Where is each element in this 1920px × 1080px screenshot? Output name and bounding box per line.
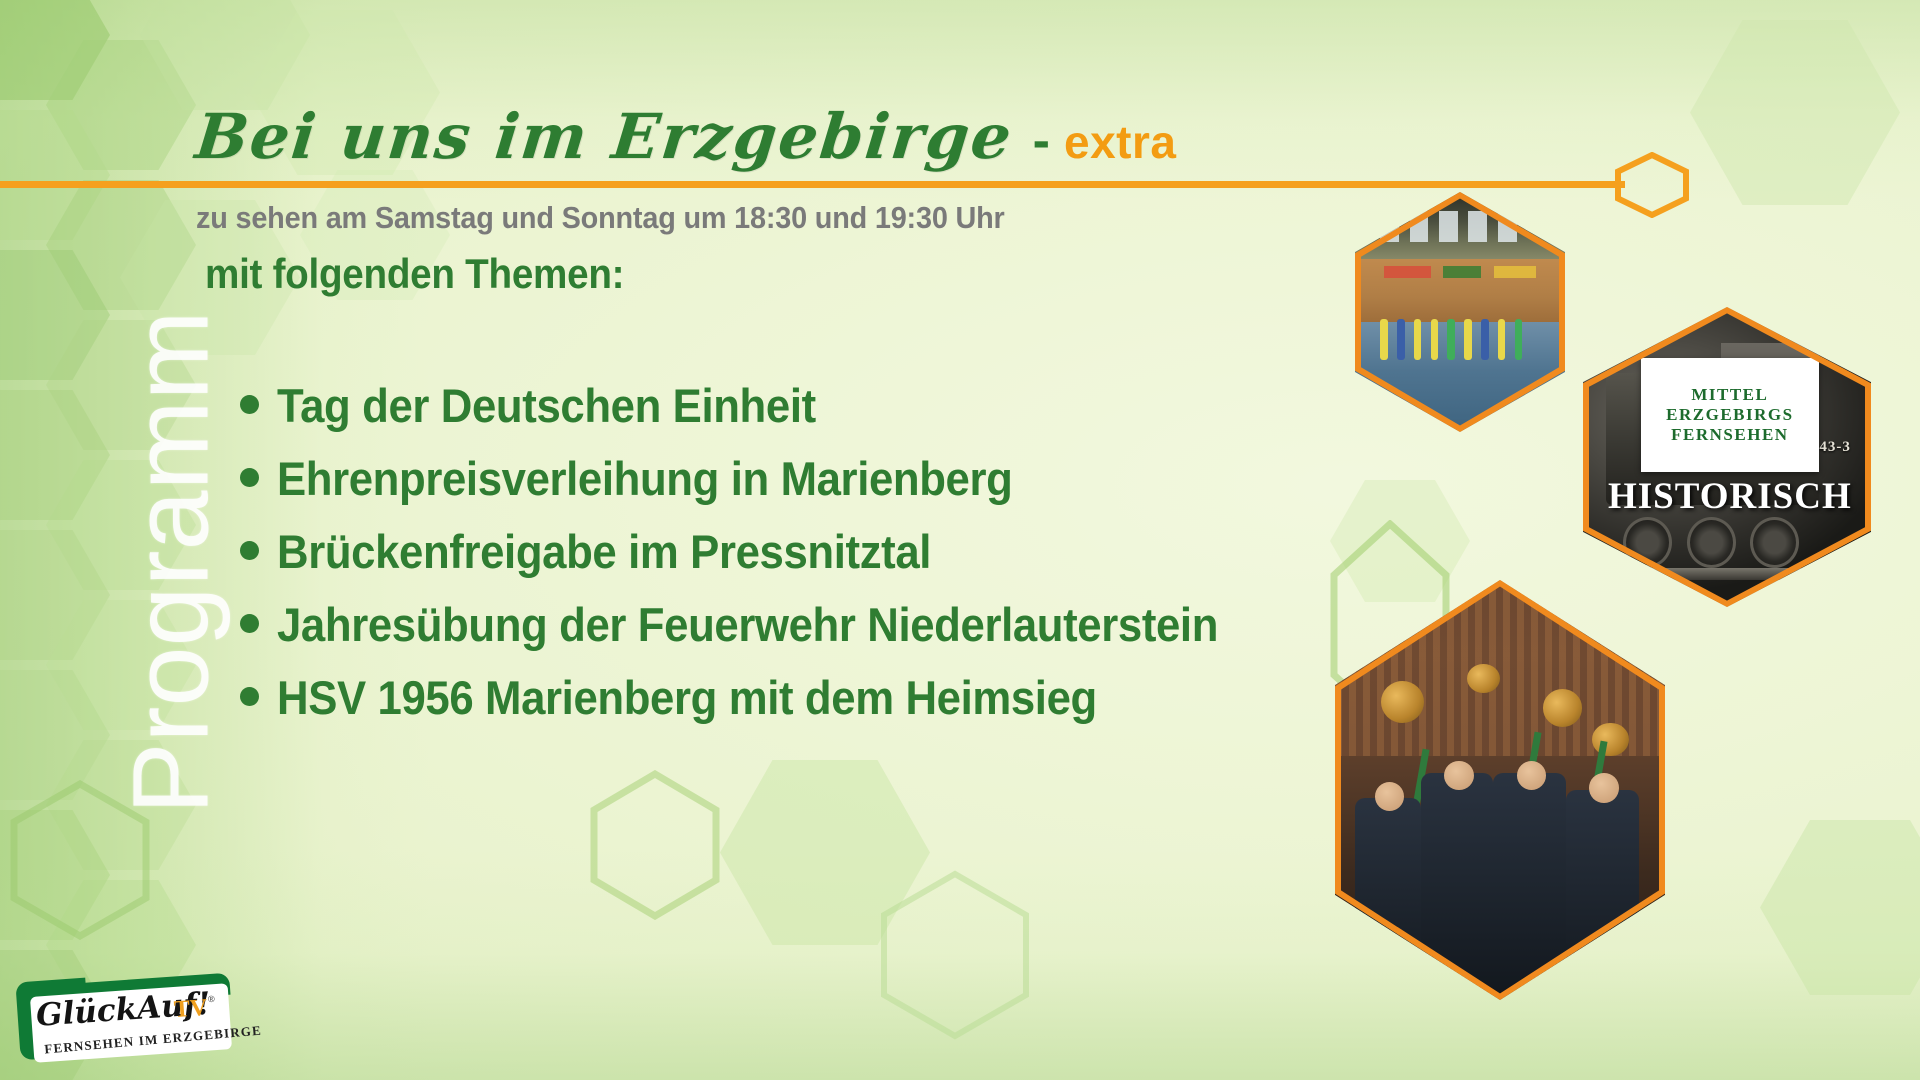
decorative-hexagon-outline [10, 780, 150, 940]
bullet-icon [240, 687, 259, 706]
glueckauf-tv-logo: GlückAuf! TV ® FERNSEHEN IM ERZGEBIRGE [22, 978, 234, 1063]
divider-end-hexagon-icon [1614, 152, 1690, 218]
topic-list: Tag der Deutschen Einheit Ehrenpreisverl… [240, 378, 1289, 743]
hall-window [1439, 211, 1458, 242]
player-figure [1481, 319, 1489, 360]
player-figure [1380, 319, 1388, 360]
page-title-script: Bei uns im Erzgebirge [192, 100, 1016, 173]
list-item: Jahresübung der Feuerwehr Niederlauterst… [240, 597, 1289, 652]
brass-instrument [1381, 681, 1424, 723]
person-head [1444, 761, 1474, 790]
badge-line-1: MITTEL [1691, 385, 1768, 405]
locomotive-wheel [1687, 517, 1736, 568]
list-item: HSV 1956 Marienberg mit dem Heimsieg [240, 670, 1289, 725]
person-head [1589, 773, 1619, 802]
topic-label: Brückenfreigabe im Pressnitztal [277, 524, 931, 579]
player-figure [1515, 319, 1523, 360]
hall-window [1468, 211, 1487, 242]
person-head [1375, 782, 1405, 811]
broadcast-times-subtitle: zu sehen am Samstag und Sonntag um 18:30… [196, 200, 1005, 236]
locomotive-wheel [1750, 517, 1799, 568]
decorative-hexagon-outline [880, 870, 1030, 1040]
bullet-icon [240, 468, 259, 487]
bullet-icon [240, 395, 259, 414]
logo-registered-mark: ® [208, 994, 215, 1004]
list-item: Tag der Deutschen Einheit [240, 378, 1289, 433]
orange-divider-rule [0, 181, 1625, 188]
badge-line-2: ERZGEBIRGS [1666, 405, 1793, 425]
mittel-erzgebirgs-fernsehen-badge: MITTEL ERZGEBIRGS FERNSEHEN [1641, 358, 1820, 472]
hall-banner [1494, 266, 1536, 278]
list-item: Ehrenpreisverleihung in Marienberg [240, 451, 1289, 506]
logo-tv-text: TV [173, 995, 208, 1024]
headline-row: Bei uns im Erzgebirge - extra [196, 100, 1176, 170]
decorative-hexagon-outline [590, 770, 720, 920]
title-extra-badge: extra [1064, 115, 1176, 169]
locomotive-number: 43-3 [1819, 439, 1851, 456]
player-figure [1464, 319, 1472, 360]
hall-banner [1384, 266, 1430, 278]
player-figure [1498, 319, 1506, 360]
title-dash: - [1033, 111, 1050, 171]
hall-banner [1443, 266, 1481, 278]
themes-intro-line: mit folgenden Themen: [205, 250, 624, 298]
list-item: Brückenfreigabe im Pressnitztal [240, 524, 1289, 579]
topic-label: HSV 1956 Marienberg mit dem Heimsieg [277, 670, 1097, 725]
topic-label: Ehrenpreisverleihung in Marienberg [277, 451, 1012, 506]
historisch-label: HISTORISCH [1595, 475, 1866, 518]
bullet-icon [240, 541, 259, 560]
player-figure [1397, 319, 1405, 360]
bullet-icon [240, 614, 259, 633]
topic-label: Tag der Deutschen Einheit [277, 378, 816, 433]
player-figure [1414, 319, 1422, 360]
topic-label: Jahresübung der Feuerwehr Niederlauterst… [277, 597, 1218, 652]
player-figure [1431, 319, 1439, 360]
player-figure [1447, 319, 1455, 360]
person-head [1517, 761, 1547, 790]
badge-line-3: FERNSEHEN [1671, 425, 1788, 445]
